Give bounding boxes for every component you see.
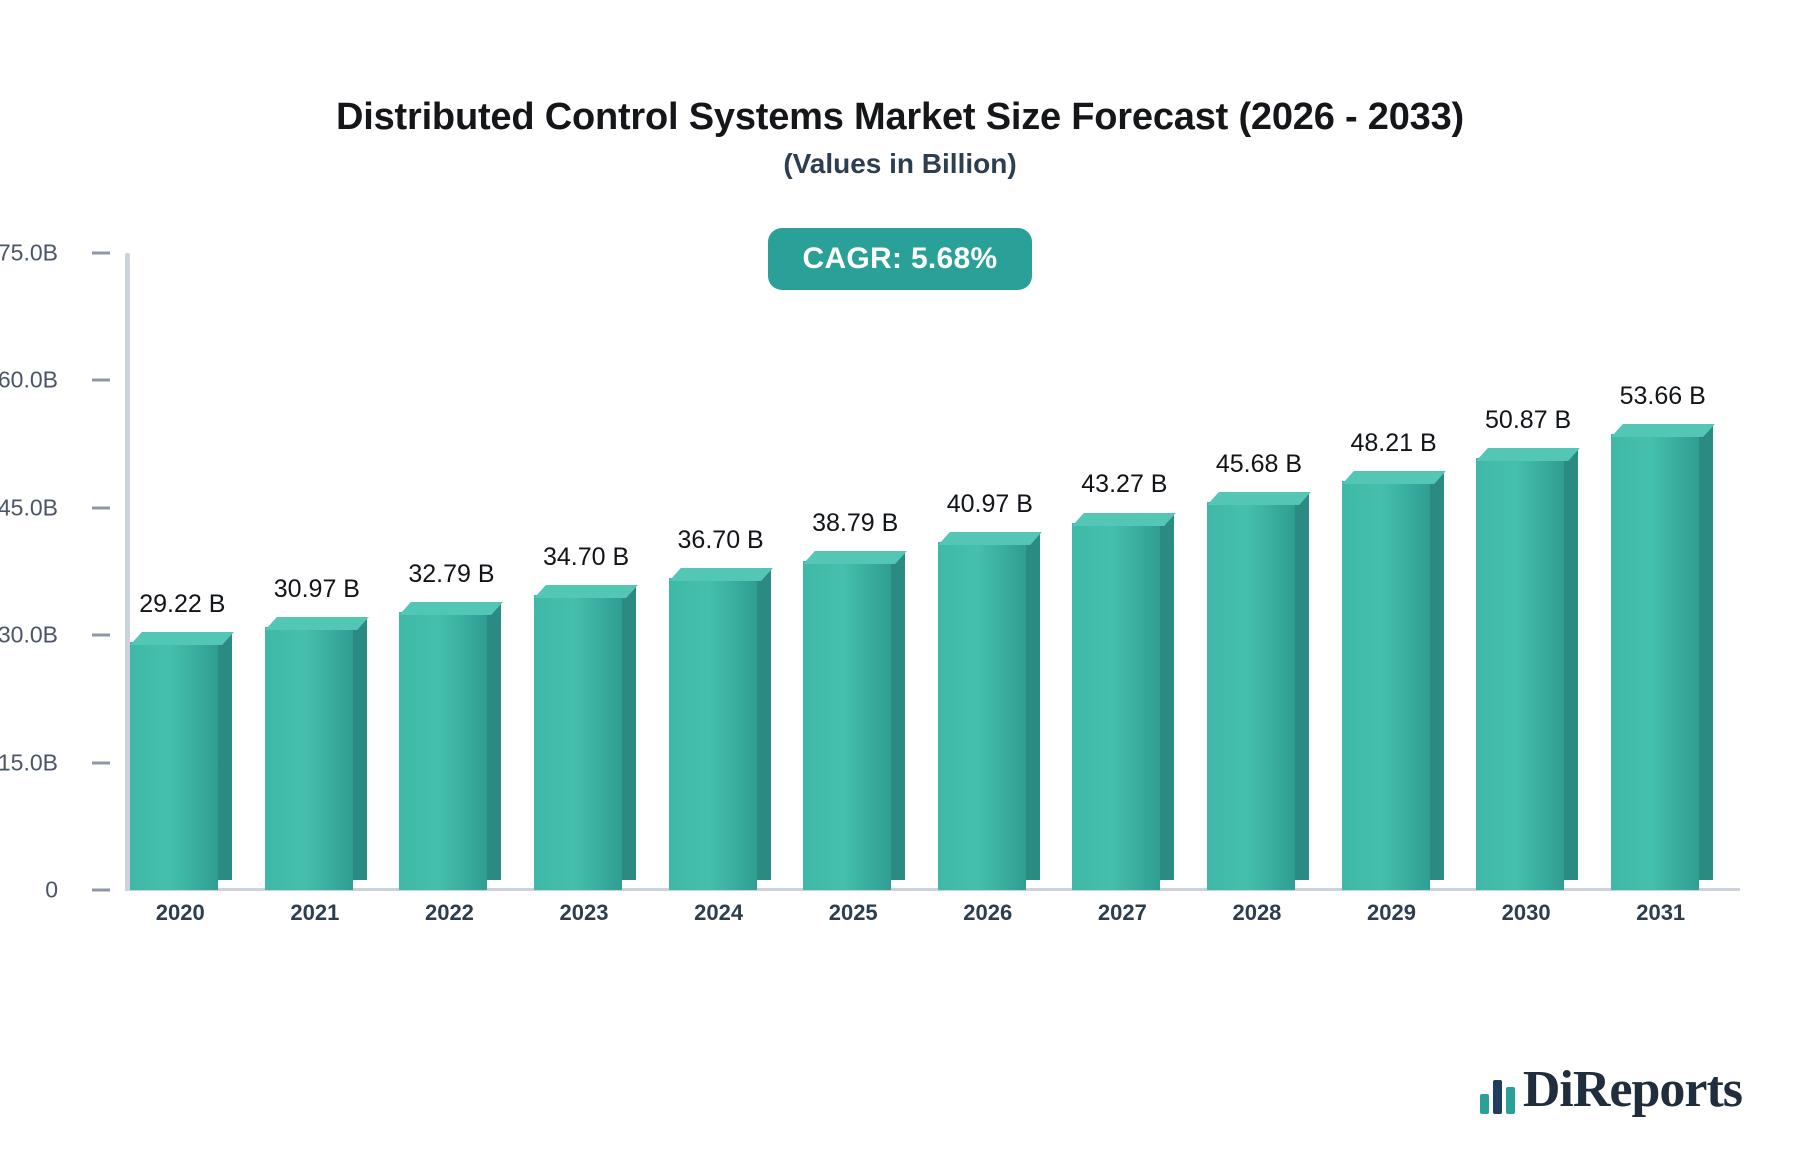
x-tick-label: 2023 — [560, 900, 609, 926]
x-tick-label: 2031 — [1636, 900, 1685, 926]
bar-side-face — [487, 602, 501, 880]
bar-value-label: 43.27 B — [1081, 470, 1167, 499]
x-tick-label: 2025 — [829, 900, 878, 926]
bar-value-label: 32.79 B — [408, 560, 494, 589]
y-tick-mark — [92, 634, 110, 637]
bar-value-label: 30.97 B — [274, 575, 360, 604]
bar-top-face — [803, 551, 907, 564]
bar-side-face — [1699, 424, 1713, 880]
bar-top-face — [130, 632, 234, 645]
bar-value-label: 38.79 B — [812, 509, 898, 538]
y-tick-label: 75.0B — [0, 240, 58, 267]
bar[interactable] — [1611, 420, 1713, 890]
bar-top-face — [1207, 492, 1311, 505]
bar-front-face — [1207, 502, 1295, 890]
x-tick-label: 2027 — [1098, 900, 1147, 926]
y-tick-mark — [92, 761, 110, 764]
x-tick-label: 2029 — [1367, 900, 1416, 926]
y-tick-mark — [92, 379, 110, 382]
bar-value-label: 34.70 B — [543, 543, 629, 572]
bar-chart-icon — [1480, 1074, 1515, 1114]
bar-side-face — [757, 568, 771, 880]
bar-top-face — [1611, 424, 1715, 437]
bar[interactable] — [803, 547, 905, 890]
chart-subtitle: (Values in Billion) — [0, 148, 1800, 180]
bar[interactable] — [534, 581, 636, 890]
y-tick-mark — [92, 252, 110, 255]
bar-front-face — [1611, 434, 1699, 890]
chart-canvas: Distributed Control Systems Market Size … — [0, 0, 1800, 1156]
bar-value-label: 36.70 B — [678, 526, 764, 555]
bar-side-face — [218, 632, 232, 880]
chart-title: Distributed Control Systems Market Size … — [0, 96, 1800, 139]
bar-side-face — [891, 551, 905, 880]
bar-value-label: 29.22 B — [139, 590, 225, 619]
x-tick-label: 2021 — [290, 900, 339, 926]
y-tick-label: 45.0B — [0, 494, 58, 521]
bar-front-face — [130, 642, 218, 890]
x-tick-label: 2026 — [963, 900, 1012, 926]
y-tick-mark — [92, 889, 110, 892]
bar-series: 29.22 B30.97 B32.79 B34.70 B36.70 B38.79… — [125, 253, 1740, 890]
bar-side-face — [1160, 513, 1174, 881]
bar-side-face — [622, 585, 636, 880]
bar[interactable] — [669, 564, 771, 890]
bar[interactable] — [265, 613, 367, 890]
y-tick-label: 60.0B — [0, 367, 58, 394]
bar-front-face — [1072, 523, 1160, 891]
x-tick-label: 2022 — [425, 900, 474, 926]
bar-side-face — [1026, 532, 1040, 880]
x-tick-label: 2030 — [1502, 900, 1551, 926]
bar-side-face — [1564, 448, 1578, 880]
logo-text: DiReports — [1523, 1065, 1742, 1114]
bar-side-face — [353, 617, 367, 880]
bar-side-face — [1295, 492, 1309, 880]
bar-value-label: 45.68 B — [1216, 450, 1302, 479]
bar[interactable] — [938, 528, 1040, 890]
bar-value-label: 40.97 B — [947, 490, 1033, 519]
y-tick-label: 15.0B — [0, 749, 58, 776]
bar-value-label: 53.66 B — [1620, 382, 1706, 411]
y-tick-label: 30.0B — [0, 622, 58, 649]
bar-top-face — [265, 617, 369, 630]
y-tick-mark — [92, 506, 110, 509]
bar-front-face — [265, 627, 353, 890]
x-tick-label: 2028 — [1232, 900, 1281, 926]
bar[interactable] — [1342, 467, 1444, 890]
bar-top-face — [669, 568, 773, 581]
bar-value-label: 48.21 B — [1350, 429, 1436, 458]
x-tick-label: 2020 — [156, 900, 205, 926]
x-tick-label: 2024 — [694, 900, 743, 926]
direports-logo: DiReports — [1480, 1065, 1742, 1114]
bar-top-face — [400, 602, 504, 615]
bar-front-face — [399, 612, 487, 890]
bar-front-face — [1476, 458, 1564, 890]
bar-front-face — [1342, 481, 1430, 890]
bar[interactable] — [1072, 509, 1174, 891]
y-tick-label: 0 — [45, 877, 58, 904]
bar-top-face — [1342, 471, 1446, 484]
bar[interactable] — [1207, 488, 1309, 890]
bar[interactable] — [130, 628, 232, 890]
bar-front-face — [669, 578, 757, 890]
bar-side-face — [1430, 471, 1444, 880]
bar-top-face — [938, 532, 1042, 545]
bar[interactable] — [1476, 444, 1578, 890]
bar-front-face — [938, 542, 1026, 890]
bar-top-face — [534, 585, 638, 598]
bar-top-face — [1073, 513, 1177, 526]
bar-top-face — [1476, 448, 1580, 461]
bar-value-label: 50.87 B — [1485, 406, 1571, 435]
bar[interactable] — [399, 598, 501, 890]
bar-front-face — [803, 561, 891, 890]
bar-front-face — [534, 595, 622, 890]
